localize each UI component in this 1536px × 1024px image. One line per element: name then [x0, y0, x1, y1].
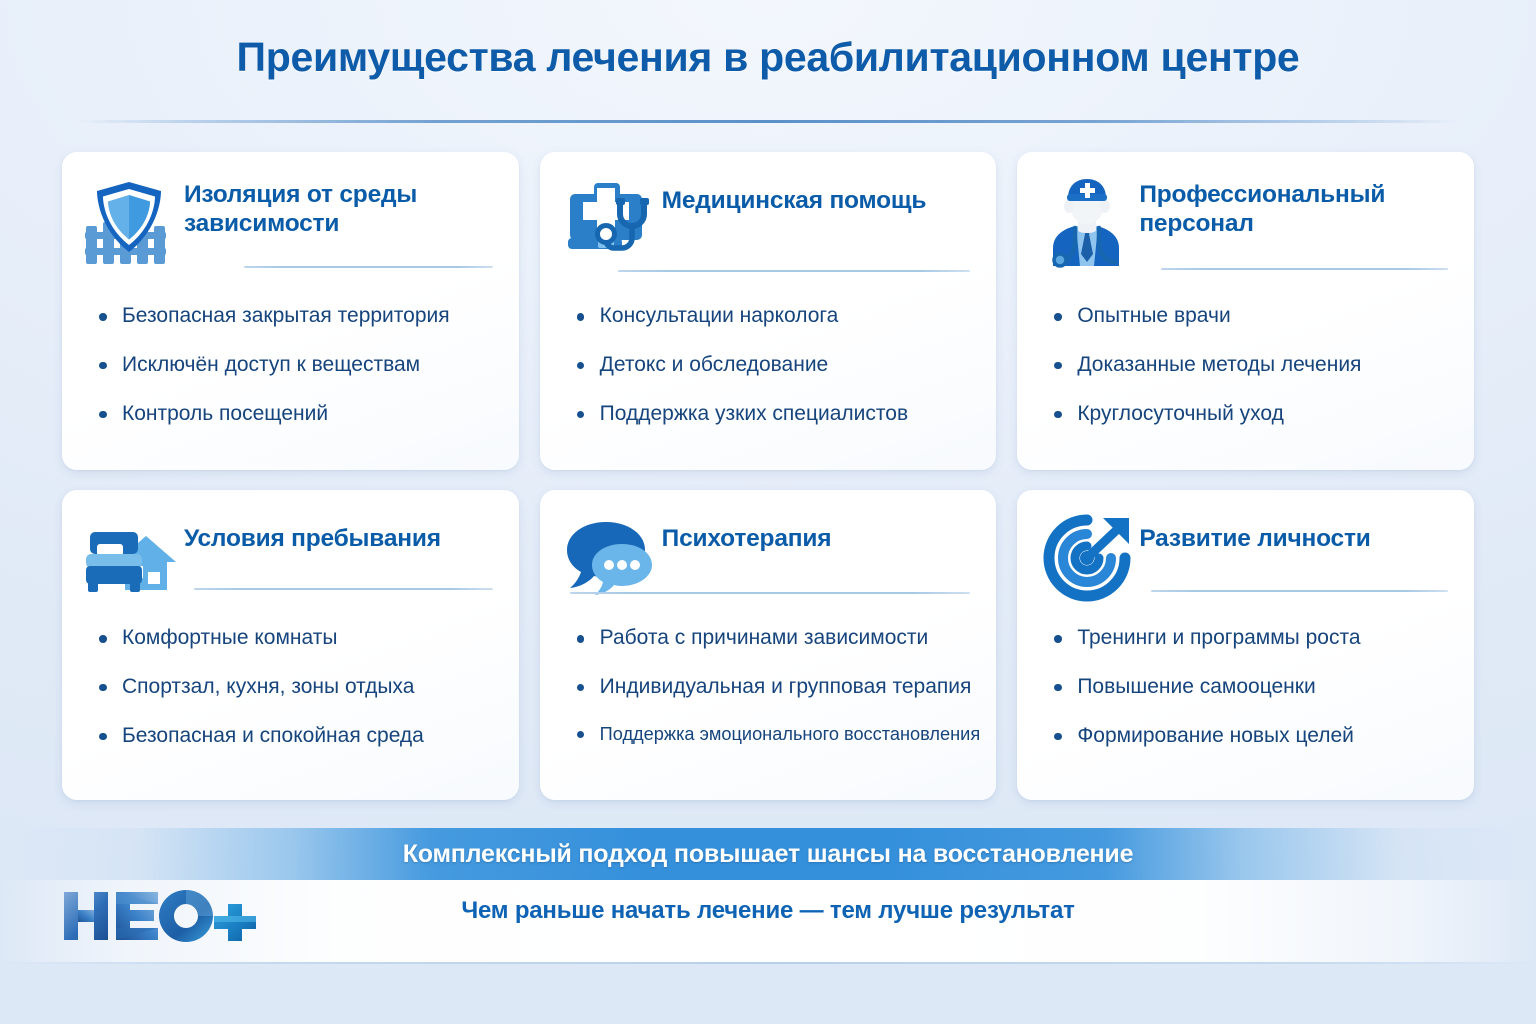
benefit-card-isolation: Изоляция от среды зависимости Безопасная…	[62, 152, 519, 470]
card-header: Условия пребывания	[62, 490, 519, 608]
benefit-card-staff: Профессиональный персонал Опытные врачи …	[1017, 152, 1474, 470]
benefit-list: Опытные врачи Доказанные методы лечения …	[1050, 304, 1456, 426]
benefit-list: Безопасная закрытая территория Исключён …	[95, 304, 501, 426]
list-item: Поддержка узких специалистов	[573, 402, 979, 427]
doctor-icon	[1039, 176, 1135, 268]
summary-banner: Комплексный подход повышает шансы на вос…	[0, 828, 1536, 880]
card-title: Условия пребывания	[184, 512, 441, 553]
benefit-list: Работа с причинами зависимости Индивидуа…	[573, 626, 979, 745]
page-title: Преимущества лечения в реабилитационном …	[0, 34, 1536, 81]
benefit-list: Консультации нарколога Детокс и обследов…	[573, 304, 979, 426]
card-header: Медицинская помощь	[540, 152, 997, 270]
list-item: Доказанные методы лечения	[1050, 353, 1456, 378]
card-divider	[618, 270, 971, 272]
list-item: Контроль посещений	[95, 402, 501, 427]
card-title: Психотерапия	[662, 512, 832, 553]
medical-bag-stethoscope-icon	[562, 176, 658, 268]
title-divider	[78, 120, 1458, 123]
benefit-card-personal-growth: Развитие личности Тренинги и программы р…	[1017, 490, 1474, 800]
benefit-list: Тренинги и программы роста Повышение сам…	[1050, 626, 1456, 748]
footer-divider	[0, 962, 1536, 964]
list-item: Опытные врачи	[1050, 304, 1456, 329]
benefits-grid: Изоляция от среды зависимости Безопасная…	[62, 152, 1474, 800]
list-item: Безопасная закрытая территория	[95, 304, 501, 329]
card-title: Развитие личности	[1139, 512, 1370, 553]
card-header: Психотерапия	[540, 490, 997, 608]
summary-banner-text: Комплексный подход повышает шансы на вос…	[403, 840, 1134, 869]
card-divider	[570, 592, 971, 594]
benefit-list: Комфортные комнаты Спортзал, кухня, зоны…	[95, 626, 501, 748]
list-item: Индивидуальная и групповая терапия	[573, 675, 979, 700]
list-item: Исключён доступ к веществам	[95, 353, 501, 378]
list-item: Спортзал, кухня, зоны отдыха	[95, 675, 501, 700]
infographic-root: Преимущества лечения в реабилитационном …	[0, 0, 1536, 1024]
card-title: Изоляция от среды зависимости	[184, 174, 493, 239]
list-item: Комфортные комнаты	[95, 626, 501, 651]
card-divider	[1151, 590, 1448, 592]
card-title: Профессиональный персонал	[1139, 174, 1448, 239]
list-item: Тренинги и программы роста	[1050, 626, 1456, 651]
card-divider	[1161, 268, 1448, 270]
card-divider	[244, 266, 493, 268]
card-header: Профессиональный персонал	[1017, 152, 1474, 270]
list-item: Работа с причинами зависимости	[573, 626, 979, 651]
neo-plus-logo	[58, 884, 258, 948]
card-divider	[194, 588, 493, 590]
list-item: Формирование новых целей	[1050, 724, 1456, 749]
benefit-card-accommodation: Условия пребывания Комфортные комнаты Сп…	[62, 490, 519, 800]
page-title-wrap: Преимущества лечения в реабилитационном …	[0, 34, 1536, 81]
bed-house-icon	[84, 514, 180, 606]
list-item: Детокс и обследование	[573, 353, 979, 378]
list-item: Поддержка эмоционального восстановления	[573, 724, 979, 745]
target-arrow-icon	[1039, 514, 1135, 606]
card-header: Изоляция от среды зависимости	[62, 152, 519, 270]
list-item: Повышение самооценки	[1050, 675, 1456, 700]
shield-fence-icon	[84, 176, 180, 268]
list-item: Консультации нарколога	[573, 304, 979, 329]
benefit-card-psychotherapy: Психотерапия Работа с причинами зависимо…	[540, 490, 997, 800]
benefit-card-medical: Медицинская помощь Консультации нарколог…	[540, 152, 997, 470]
list-item: Круглосуточный уход	[1050, 402, 1456, 427]
list-item: Безопасная и спокойная среда	[95, 724, 501, 749]
card-title: Медицинская помощь	[662, 174, 927, 215]
